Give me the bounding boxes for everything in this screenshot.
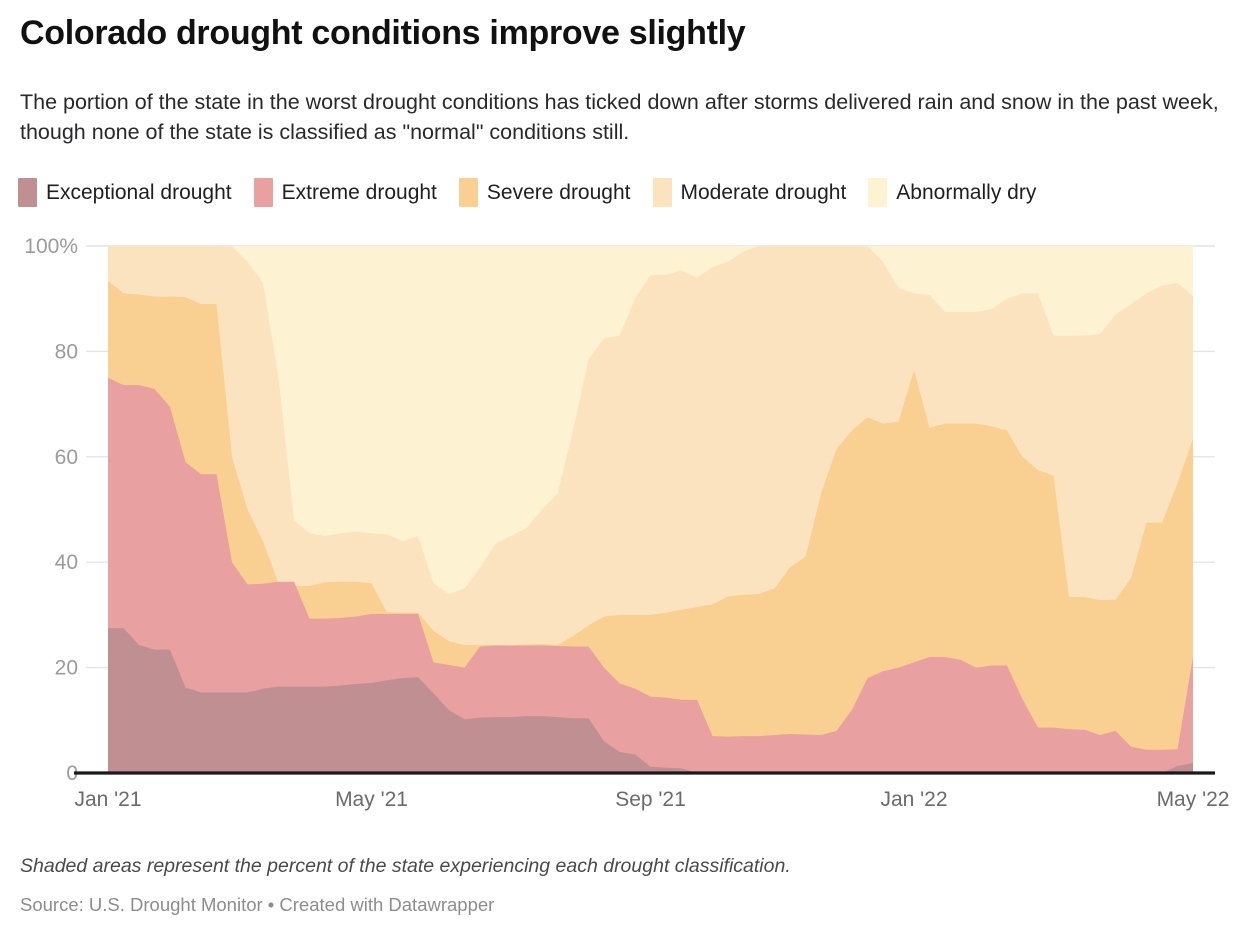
x-axis-tick-label: Jan '21 xyxy=(74,788,141,811)
legend-item[interactable]: Extreme drought xyxy=(254,178,437,207)
chart-legend: Exceptional droughtExtreme droughtSevere… xyxy=(18,178,1058,207)
page-title: Colorado drought conditions improve slig… xyxy=(20,14,745,53)
x-axis-tick-label: Sep '21 xyxy=(615,788,686,811)
legend-item[interactable]: Severe drought xyxy=(459,178,631,207)
y-axis-tick-label: 100% xyxy=(24,235,78,258)
x-axis-tick-label: Jan '22 xyxy=(880,788,947,811)
y-axis-tick-label: 20 xyxy=(55,657,78,680)
legend-swatch-icon xyxy=(868,178,887,207)
legend-item[interactable]: Moderate drought xyxy=(653,178,847,207)
legend-item[interactable]: Exceptional drought xyxy=(18,178,232,207)
legend-label: Severe drought xyxy=(487,181,631,205)
drought-area-chart-card: Colorado drought conditions improve slig… xyxy=(0,0,1240,940)
legend-label: Exceptional drought xyxy=(46,181,232,205)
legend-label: Abnormally dry xyxy=(896,181,1036,205)
legend-swatch-icon xyxy=(653,178,672,207)
chart-note: Shaded areas represent the percent of th… xyxy=(20,855,791,878)
y-axis-tick-label: 80 xyxy=(55,340,78,363)
legend-swatch-icon xyxy=(254,178,273,207)
chart-subtitle: The portion of the state in the worst dr… xyxy=(20,88,1220,147)
stacked-area-svg: 020406080100%Jan '21May '21Sep '21Jan '2… xyxy=(0,228,1240,828)
y-axis-tick-label: 60 xyxy=(55,446,78,469)
x-axis-tick-label: May '21 xyxy=(335,788,408,811)
plot-area: 020406080100%Jan '21May '21Sep '21Jan '2… xyxy=(0,228,1240,828)
legend-label: Moderate drought xyxy=(681,181,847,205)
legend-swatch-icon xyxy=(18,178,37,207)
x-axis-tick-label: May '22 xyxy=(1157,788,1230,811)
legend-item[interactable]: Abnormally dry xyxy=(868,178,1036,207)
chart-source: Source: U.S. Drought Monitor • Created w… xyxy=(20,894,494,916)
y-axis-tick-label: 40 xyxy=(55,551,78,574)
legend-label: Extreme drought xyxy=(282,181,437,205)
legend-swatch-icon xyxy=(459,178,478,207)
